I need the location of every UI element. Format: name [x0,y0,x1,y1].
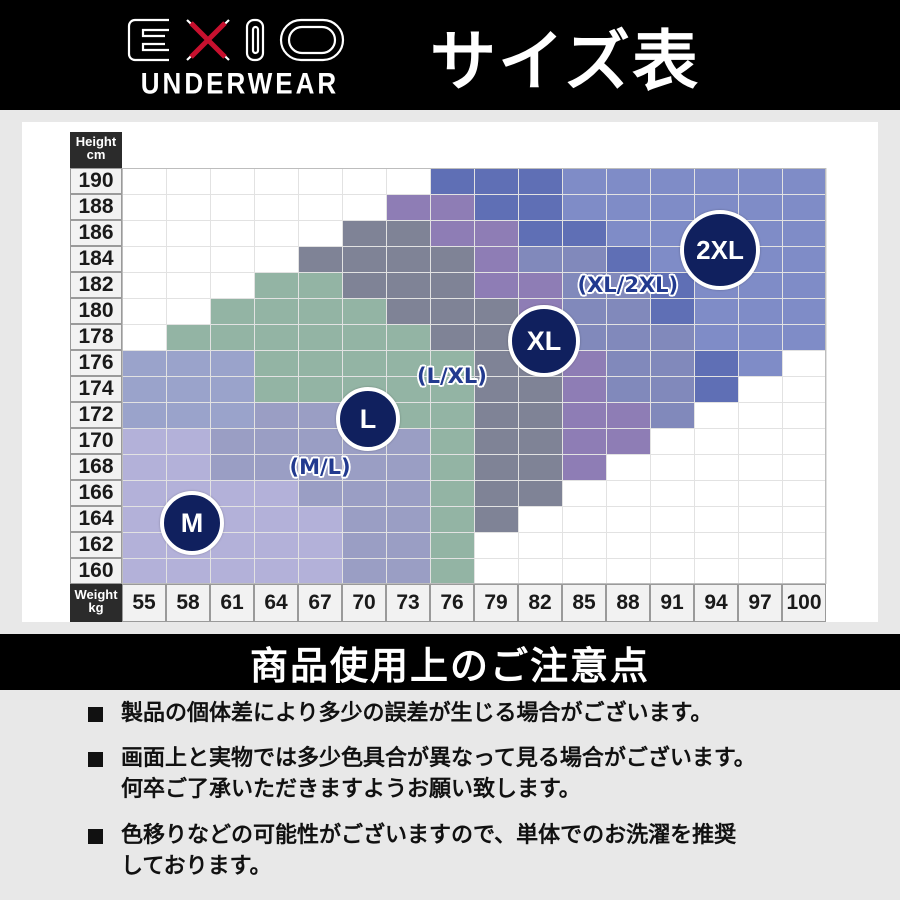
heatmap-cell [474,428,518,454]
heatmap-cell [210,298,254,324]
weight-tick-label: 79 [474,584,518,622]
height-tick-label: 190 [70,168,122,194]
weight-tick-label: 85 [562,584,606,622]
heatmap-cell [122,428,166,454]
heatmap-cell [166,402,210,428]
notice-title: 商品使用上のご注意点 [250,635,650,690]
heatmap-cell [342,506,386,532]
heatmap-cell [166,428,210,454]
brand-logo: UNDERWEAR [120,14,360,99]
weight-tick-label: 82 [518,584,562,622]
heatmap-cell [254,428,298,454]
heatmap-cell [606,246,650,272]
heatmap-cell [738,324,782,350]
weight-tick-label: 55 [122,584,166,622]
weight-tick-label: 76 [430,584,474,622]
exio-logo-icon [125,14,355,66]
notice-item-text: 製品の個体差により多少の誤差が生じる場合がございます。 [121,698,712,729]
size-badge-m: M [160,491,224,555]
heatmap-cell [298,480,342,506]
heatmap-cell [298,324,342,350]
heatmap-cell [738,298,782,324]
weight-tick-label: 67 [298,584,342,622]
height-tick-label: 162 [70,532,122,558]
heatmap-cell [166,324,210,350]
height-tick-label: 180 [70,298,122,324]
page-header: UNDERWEAR サイズ表 [0,0,900,110]
heatmap-cell [562,246,606,272]
heatmap-cell [342,246,386,272]
heatmap-cell [650,324,694,350]
grid-line-horizontal [122,532,826,533]
grid-line-horizontal [122,428,826,429]
heatmap-cell [122,532,166,558]
height-tick-label: 186 [70,220,122,246]
grid-line-horizontal [122,506,826,507]
heatmap-cell [650,298,694,324]
heatmap-cell [210,428,254,454]
heatmap-cell [342,272,386,298]
heatmap-cell [166,558,210,584]
heatmap-cell [474,168,518,194]
notice-item-line1: 画面上と実物では多少色具合が異なって見る場合がございます。 [121,746,756,771]
heatmap-cell [738,194,782,220]
heatmap-cell [386,246,430,272]
heatmap-cell [606,298,650,324]
heatmap-cell [342,532,386,558]
heatmap-cell [254,350,298,376]
overlap-region-label: (L/XL) [417,364,487,388]
heatmap-cell [782,194,826,220]
heatmap-cell [166,454,210,480]
height-tick-label: 174 [70,376,122,402]
page-title: サイズ表 [430,8,700,104]
heatmap-cell [430,402,474,428]
weight-axis-header: Weight kg [70,584,122,622]
heatmap-cell [518,376,562,402]
grid-line-vertical [826,168,827,584]
heatmap-cell [474,246,518,272]
notice-item-line2: 何卒ご了承いただきますようお願い致します。 [121,774,756,805]
heatmap-cell [474,272,518,298]
heatmap-cell [386,558,430,584]
heatmap-cell [650,168,694,194]
heatmap-cell [606,402,650,428]
weight-tick-label: 73 [386,584,430,622]
heatmap-cell [430,298,474,324]
heatmap-cell [254,532,298,558]
heatmap-cell [254,558,298,584]
height-tick-label: 184 [70,246,122,272]
heatmap-cell [606,168,650,194]
height-tick-label: 182 [70,272,122,298]
heatmap-cell [298,506,342,532]
heatmap-cell [122,558,166,584]
heatmap-cell [210,454,254,480]
grid-line-horizontal [122,298,826,299]
grid-line-horizontal [122,558,826,559]
heatmap-cell [298,428,342,454]
heatmap-cell [210,350,254,376]
heatmap-cell [650,194,694,220]
heatmap-cell [254,506,298,532]
weight-tick-label: 64 [254,584,298,622]
heatmap-cell [342,324,386,350]
heatmap-cell [342,480,386,506]
size-badge-xl: XL [508,305,580,377]
notice-item-text: 色移りなどの可能性がございますので、単体でのお洗濯を推奨しております。 [121,820,736,882]
height-tick-label: 170 [70,428,122,454]
grid-line-horizontal [122,194,826,195]
heatmap-cell [386,532,430,558]
heatmap-cell [122,376,166,402]
height-tick-label: 164 [70,506,122,532]
heatmap-cell [430,324,474,350]
height-tick-label: 178 [70,324,122,350]
heatmap-cell [430,480,474,506]
heatmap-cell [650,350,694,376]
heatmap-cell [254,402,298,428]
heatmap-cell [254,376,298,402]
heatmap-cell [782,324,826,350]
heatmap-cell [254,298,298,324]
weight-tick-label: 91 [650,584,694,622]
size-badge-l: L [336,387,400,451]
heatmap-cell [298,532,342,558]
heatmap-cell [210,324,254,350]
notice-item: 画面上と実物では多少色具合が異なって見る場合がございます。何卒ご了承いただきます… [0,743,900,805]
weight-tick-label: 100 [782,584,826,622]
heatmap-cell [122,350,166,376]
overlap-region-label: (XL/2XL) [578,273,679,297]
heatmap-cell [430,194,474,220]
heatmap-cell [430,168,474,194]
heatmap-cell [474,220,518,246]
heatmap-cell [386,272,430,298]
heatmap-cell [430,220,474,246]
heatmap-cell [386,480,430,506]
heatmap-cell [694,350,738,376]
grid-line-horizontal [122,480,826,481]
heatmap-cell [342,298,386,324]
heatmap-cell [518,220,562,246]
heatmap-cell [694,298,738,324]
notice-item-text: 画面上と実物では多少色具合が異なって見る場合がございます。何卒ご了承いただきます… [121,743,756,805]
heatmap-cell [386,194,430,220]
height-tick-label: 176 [70,350,122,376]
height-axis-header-line2: cm [70,148,122,161]
heatmap-cell [122,402,166,428]
heatmap-cell [562,454,606,480]
heatmap-cell [386,324,430,350]
heatmap-cell [518,480,562,506]
heatmap-cell [210,402,254,428]
grid-line-horizontal [122,324,826,325]
heatmap-cell [474,194,518,220]
notice-item-line2: しております。 [121,851,736,882]
weight-tick-label: 58 [166,584,210,622]
heatmap-cell [430,454,474,480]
heatmap-cell [386,298,430,324]
weight-tick-label: 97 [738,584,782,622]
heatmap-cell [430,532,474,558]
heatmap-cell [518,246,562,272]
heatmap-cell [298,350,342,376]
heatmap-cell [562,376,606,402]
heatmap-cell [518,194,562,220]
heatmap-cell [254,480,298,506]
notice-list: 製品の個体差により多少の誤差が生じる場合がございます。画面上と実物では多少色具合… [0,698,900,896]
heatmap-cell [342,350,386,376]
heatmap-cell [518,168,562,194]
heatmap-cell [386,220,430,246]
heatmap-cell [782,220,826,246]
heatmap-cell [518,428,562,454]
heatmap-cell [694,324,738,350]
heatmap-cell [562,194,606,220]
heatmap-cell [694,168,738,194]
height-tick-label: 188 [70,194,122,220]
heatmap-cell [254,272,298,298]
grid-line-horizontal [122,168,826,169]
bullet-square-icon [88,707,103,722]
notice-item-line1: 色移りなどの可能性がございますので、単体でのお洗濯を推奨 [121,823,736,848]
heatmap-cell [738,350,782,376]
bullet-square-icon [88,752,103,767]
heatmap-cell [210,376,254,402]
heatmap-cell [782,272,826,298]
weight-tick-label: 61 [210,584,254,622]
heatmap-cell [606,324,650,350]
heatmap-cell [562,220,606,246]
brand-subtitle: UNDERWEAR [120,66,360,102]
height-tick-label: 166 [70,480,122,506]
heatmap-cell [386,454,430,480]
grid-line-horizontal [122,402,826,403]
heatmap-cell [430,428,474,454]
heatmap-cell [650,376,694,402]
heatmap-cell [342,220,386,246]
heatmap-cell [298,246,342,272]
heatmap-cell [474,480,518,506]
weight-tick-label: 70 [342,584,386,622]
notice-title-bar: 商品使用上のご注意点 [0,634,900,690]
heatmap-cell [298,558,342,584]
heatmap-cell [562,428,606,454]
heatmap-cell [562,168,606,194]
heatmap-cell [122,454,166,480]
bullet-square-icon [88,829,103,844]
heatmap-cell [606,376,650,402]
heatmap-cell [430,558,474,584]
grid-line-horizontal [122,454,826,455]
heatmap-cell [782,246,826,272]
size-badge-2xl: 2XL [680,210,760,290]
heatmap-cell [518,272,562,298]
heatmap-cell [210,558,254,584]
heatmap-cell [606,428,650,454]
size-chart-panel: Height cm Weight kg 19018818618418218017… [22,122,878,622]
heatmap-cell [606,194,650,220]
heatmap-cell [254,324,298,350]
notice-item: 製品の個体差により多少の誤差が生じる場合がございます。 [0,698,900,729]
grid-line-horizontal [122,350,826,351]
heatmap-cell [122,480,166,506]
height-axis-header: Height cm [70,132,122,168]
heatmap-cell [430,506,474,532]
heatmap-cell [606,350,650,376]
overlap-region-label: (M/L) [290,455,351,479]
heatmap-cell [474,298,518,324]
heatmap-cell [430,246,474,272]
heatmap-cell [694,376,738,402]
heatmap-cell [474,402,518,428]
heatmap-cell [166,376,210,402]
notice-item: 色移りなどの可能性がございますので、単体でのお洗濯を推奨しております。 [0,820,900,882]
weight-tick-label: 94 [694,584,738,622]
heatmap-cell [606,220,650,246]
height-tick-label: 172 [70,402,122,428]
heatmap-cell [474,454,518,480]
heatmap-cell [430,272,474,298]
weight-tick-label: 88 [606,584,650,622]
heatmap-cell [782,168,826,194]
heatmap-cell [298,298,342,324]
height-tick-label: 168 [70,454,122,480]
heatmap-cell [738,168,782,194]
height-tick-label: 160 [70,558,122,584]
notice-item-line1: 製品の個体差により多少の誤差が生じる場合がございます。 [121,701,712,726]
heatmap-cell [342,558,386,584]
heatmap-cell [298,272,342,298]
heatmap-cell [298,376,342,402]
heatmap-cell [650,402,694,428]
heatmap-cell [166,350,210,376]
heatmap-cell [518,402,562,428]
heatmap-cell [782,298,826,324]
heatmap-cell [474,506,518,532]
weight-axis-header-line2: kg [70,601,122,614]
heatmap-cell [562,402,606,428]
heatmap-cell [386,506,430,532]
heatmap-cell [518,454,562,480]
